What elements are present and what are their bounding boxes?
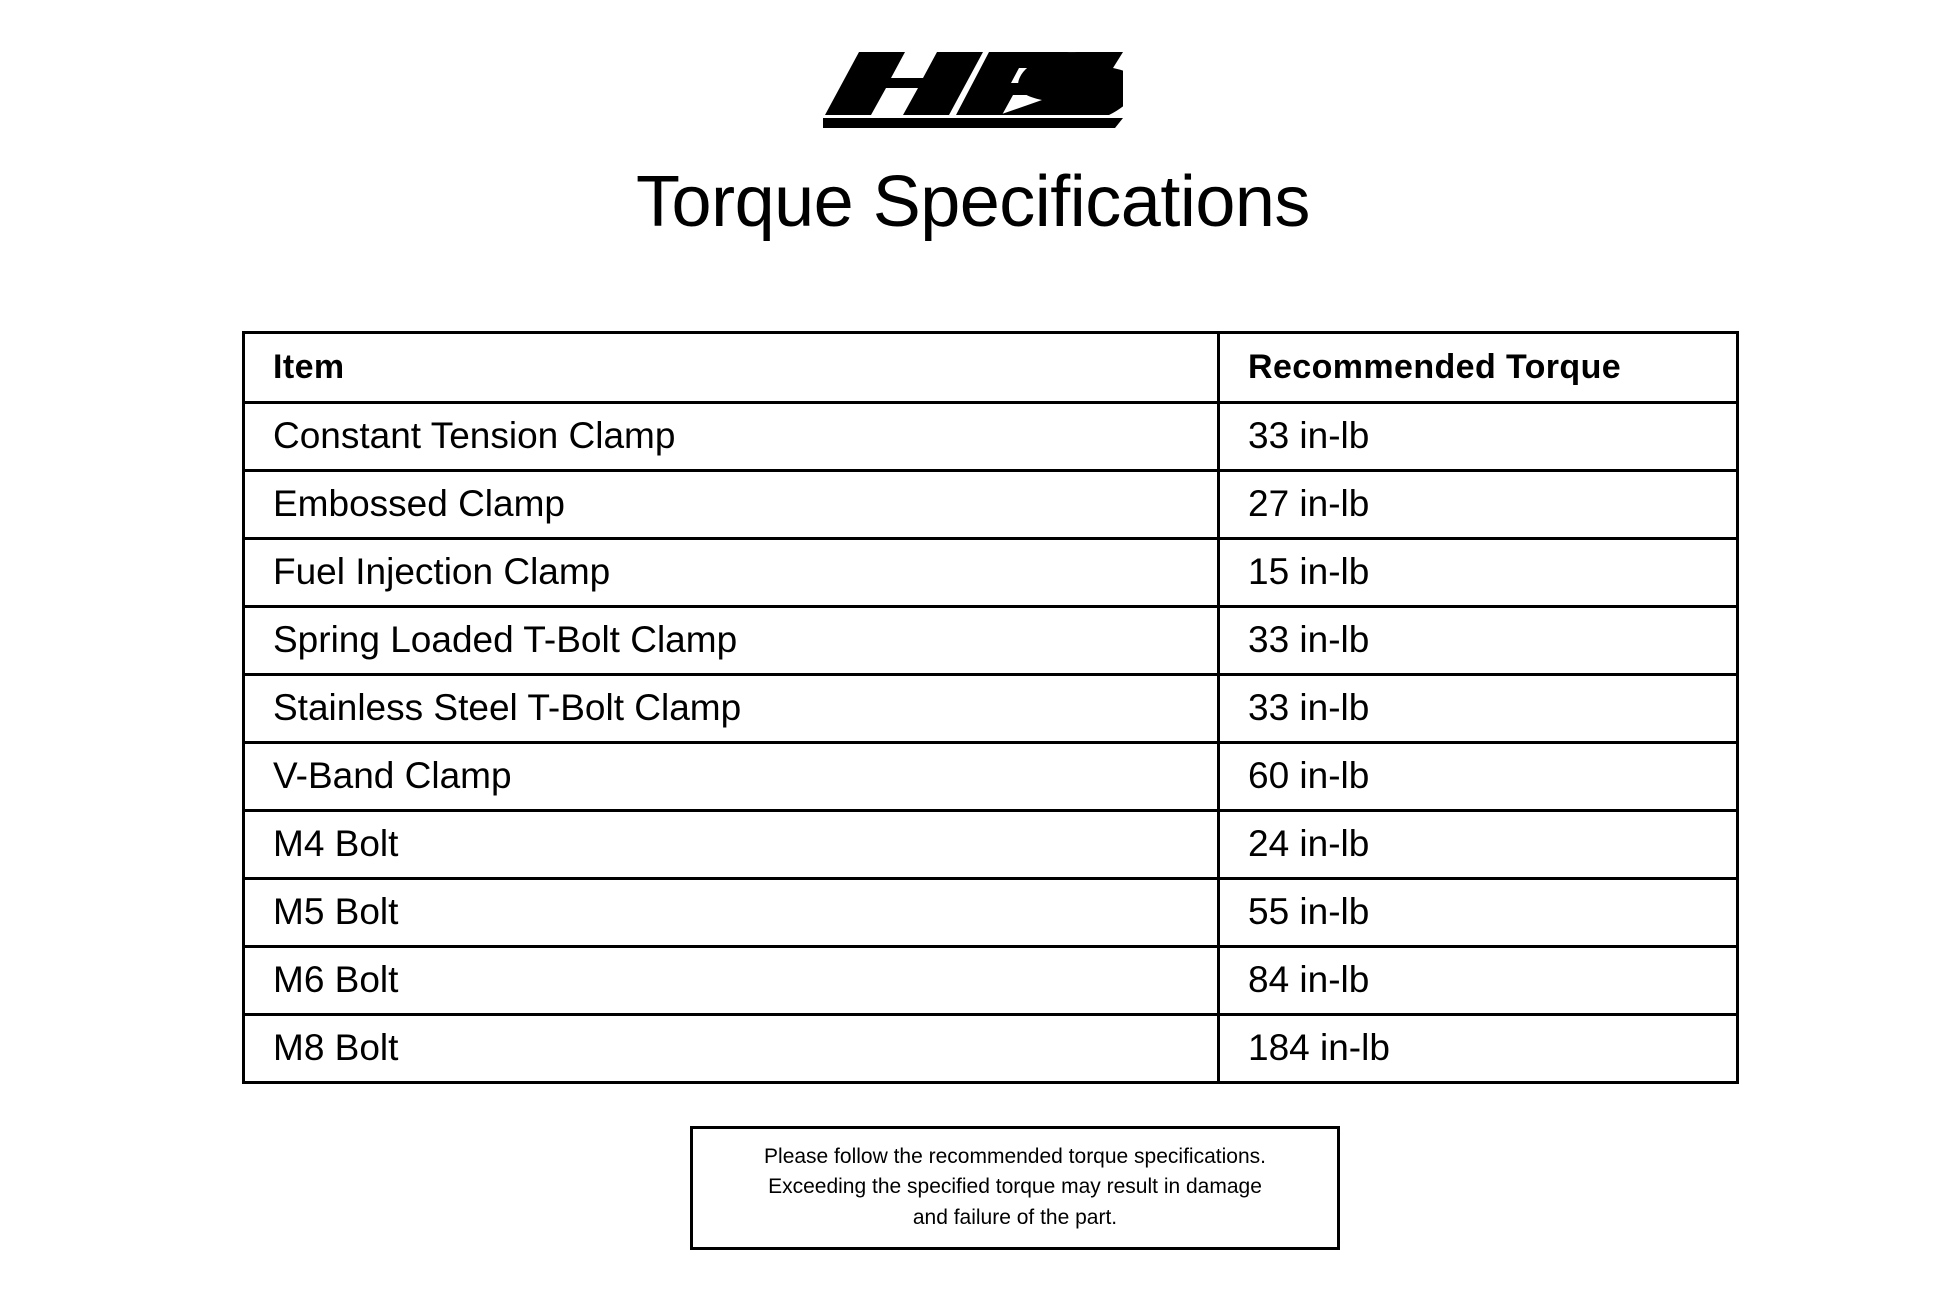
note-line-1: Please follow the recommended torque spe… <box>703 1142 1327 1172</box>
table-row: V-Band Clamp 60 in-lb <box>244 743 1738 811</box>
cell-item: M5 Bolt <box>244 879 1219 947</box>
hps-logo-icon <box>823 38 1123 128</box>
cell-item: Stainless Steel T-Bolt Clamp <box>244 675 1219 743</box>
cell-torque: 84 in-lb <box>1219 947 1738 1015</box>
table-header-row: Item Recommended Torque <box>244 333 1738 403</box>
cell-item: Embossed Clamp <box>244 471 1219 539</box>
note-line-2: Exceeding the specified torque may resul… <box>703 1172 1327 1202</box>
table-row: Embossed Clamp 27 in-lb <box>244 471 1738 539</box>
note-line-3: and failure of the part. <box>703 1203 1327 1233</box>
torque-spec-table-container: Item Recommended Torque Constant Tension… <box>242 331 1736 1084</box>
table-row: Constant Tension Clamp 33 in-lb <box>244 403 1738 471</box>
cell-torque: 33 in-lb <box>1219 675 1738 743</box>
table-header: Item Recommended Torque <box>244 333 1738 403</box>
cell-torque: 184 in-lb <box>1219 1015 1738 1083</box>
table-body: Constant Tension Clamp 33 in-lb Embossed… <box>244 403 1738 1083</box>
cell-torque: 55 in-lb <box>1219 879 1738 947</box>
cell-torque: 60 in-lb <box>1219 743 1738 811</box>
cell-item: M4 Bolt <box>244 811 1219 879</box>
cell-torque: 33 in-lb <box>1219 403 1738 471</box>
column-header-item: Item <box>244 333 1219 403</box>
column-header-recommended-torque: Recommended Torque <box>1219 333 1738 403</box>
cell-torque: 33 in-lb <box>1219 607 1738 675</box>
table-row: Stainless Steel T-Bolt Clamp 33 in-lb <box>244 675 1738 743</box>
cell-torque: 27 in-lb <box>1219 471 1738 539</box>
brand-logo <box>0 38 1946 128</box>
page-title: Torque Specifications <box>0 166 1946 238</box>
table-row: M4 Bolt 24 in-lb <box>244 811 1738 879</box>
cell-item: Fuel Injection Clamp <box>244 539 1219 607</box>
table-row: M6 Bolt 84 in-lb <box>244 947 1738 1015</box>
table-row: Spring Loaded T-Bolt Clamp 33 in-lb <box>244 607 1738 675</box>
cell-item: V-Band Clamp <box>244 743 1219 811</box>
table-row: Fuel Injection Clamp 15 in-lb <box>244 539 1738 607</box>
cell-item: M6 Bolt <box>244 947 1219 1015</box>
table-row: M8 Bolt 184 in-lb <box>244 1015 1738 1083</box>
cell-item: M8 Bolt <box>244 1015 1219 1083</box>
torque-spec-table: Item Recommended Torque Constant Tension… <box>242 331 1739 1084</box>
cell-torque: 15 in-lb <box>1219 539 1738 607</box>
cell-item: Spring Loaded T-Bolt Clamp <box>244 607 1219 675</box>
warning-note-box: Please follow the recommended torque spe… <box>690 1126 1340 1250</box>
table-row: M5 Bolt 55 in-lb <box>244 879 1738 947</box>
cell-item: Constant Tension Clamp <box>244 403 1219 471</box>
cell-torque: 24 in-lb <box>1219 811 1738 879</box>
